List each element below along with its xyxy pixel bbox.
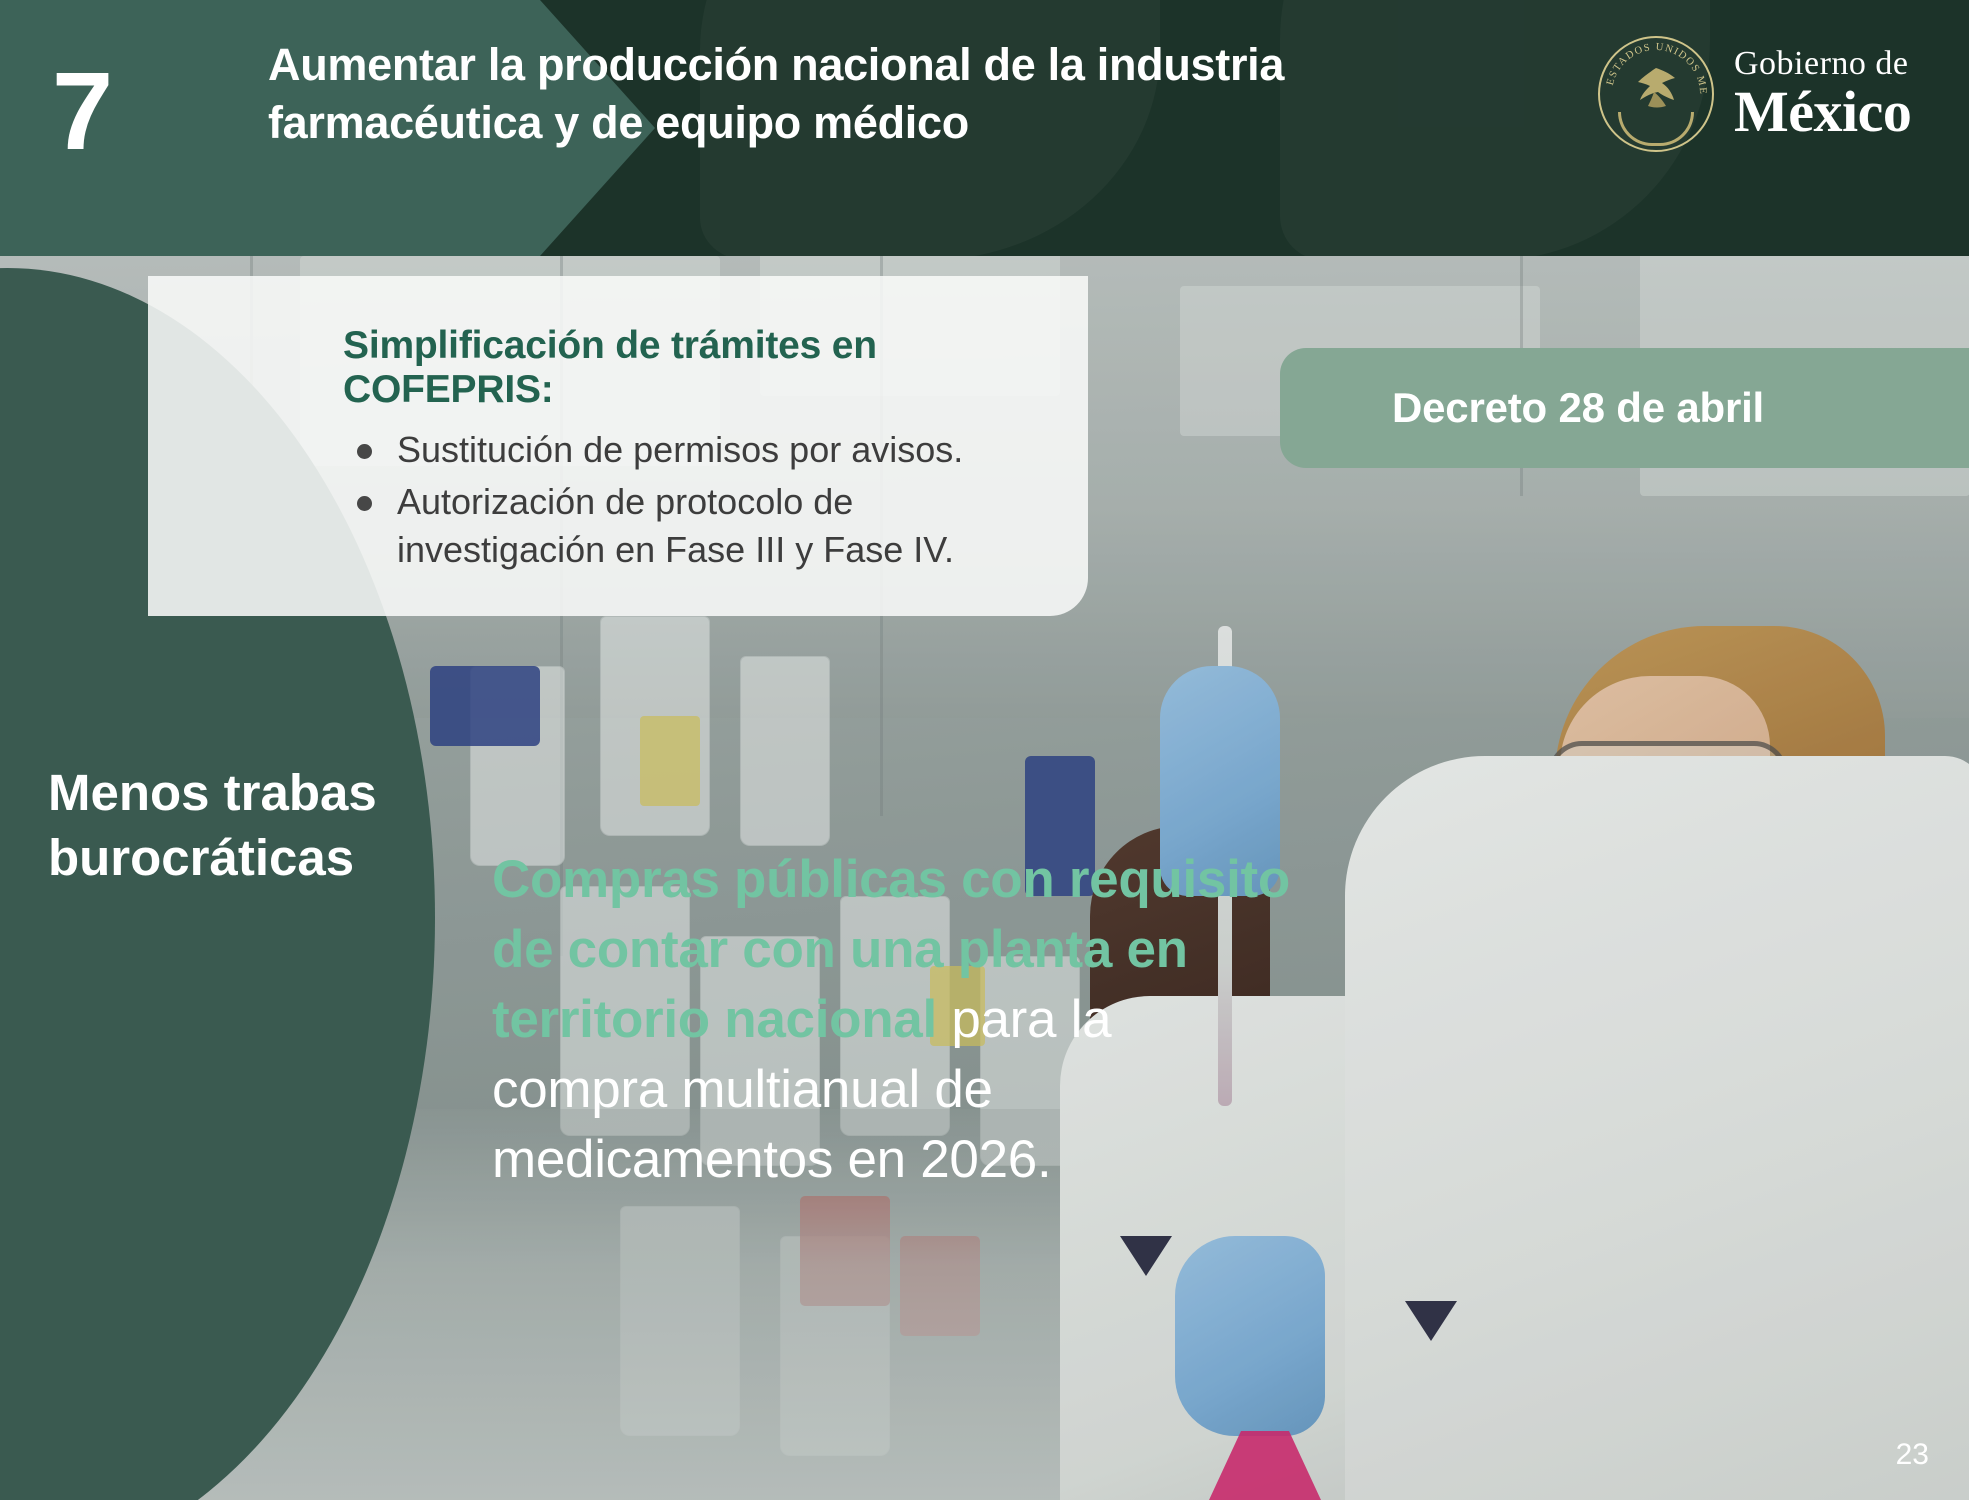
list-item: Autorización de protocolo de investigaci… [343, 478, 1046, 574]
cofepris-card: Simplificación de trámites en COFEPRIS: … [148, 276, 1088, 616]
mexican-coat-of-arms-seal-icon: ESTADOS UNIDOS MEXICANOS [1598, 36, 1714, 152]
logo-line-gobierno-de: Gobierno de [1734, 47, 1911, 81]
statement-highlight: Compras públicas con requisito de contar… [492, 850, 1290, 1049]
card-title: Simplificación de trámites en COFEPRIS: [343, 324, 1046, 412]
slide: 7 Aumentar la producción nacional de la … [0, 0, 1969, 1500]
logo-line-mexico: México [1734, 83, 1911, 141]
seal-ring-text: ESTADOS UNIDOS MEXICANOS [1598, 36, 1714, 152]
section-number: 7 [52, 24, 111, 200]
list-item-text: Autorización de protocolo de investigaci… [397, 481, 954, 570]
list-item: Sustitución de permisos por avisos. [343, 426, 1046, 474]
page-number: 23 [1896, 1438, 1929, 1472]
svg-text:ESTADOS UNIDOS MEXICANOS: ESTADOS UNIDOS MEXICANOS [1598, 36, 1708, 96]
decreto-badge: Decreto 28 de abril [1280, 348, 1969, 468]
bullet-dot-icon [357, 496, 372, 511]
page-title: Aumentar la producción nacional de la in… [268, 36, 1498, 151]
card-bullet-list: Sustitución de permisos por avisos. Auto… [343, 426, 1046, 575]
decreto-badge-label: Decreto 28 de abril [1392, 384, 1764, 432]
slide-header: 7 Aumentar la producción nacional de la … [0, 0, 1969, 256]
left-panel-label: Menos trabas burocráticas [48, 760, 388, 891]
bullet-dot-icon [357, 444, 372, 459]
list-item-text: Sustitución de permisos por avisos. [397, 429, 963, 470]
main-statement: Compras públicas con requisito de contar… [492, 845, 1292, 1195]
gobierno-de-mexico-logo: ESTADOS UNIDOS MEXICANOS Gobierno de Méx… [1598, 36, 1911, 152]
logo-wordmark: Gobierno de México [1734, 47, 1911, 141]
